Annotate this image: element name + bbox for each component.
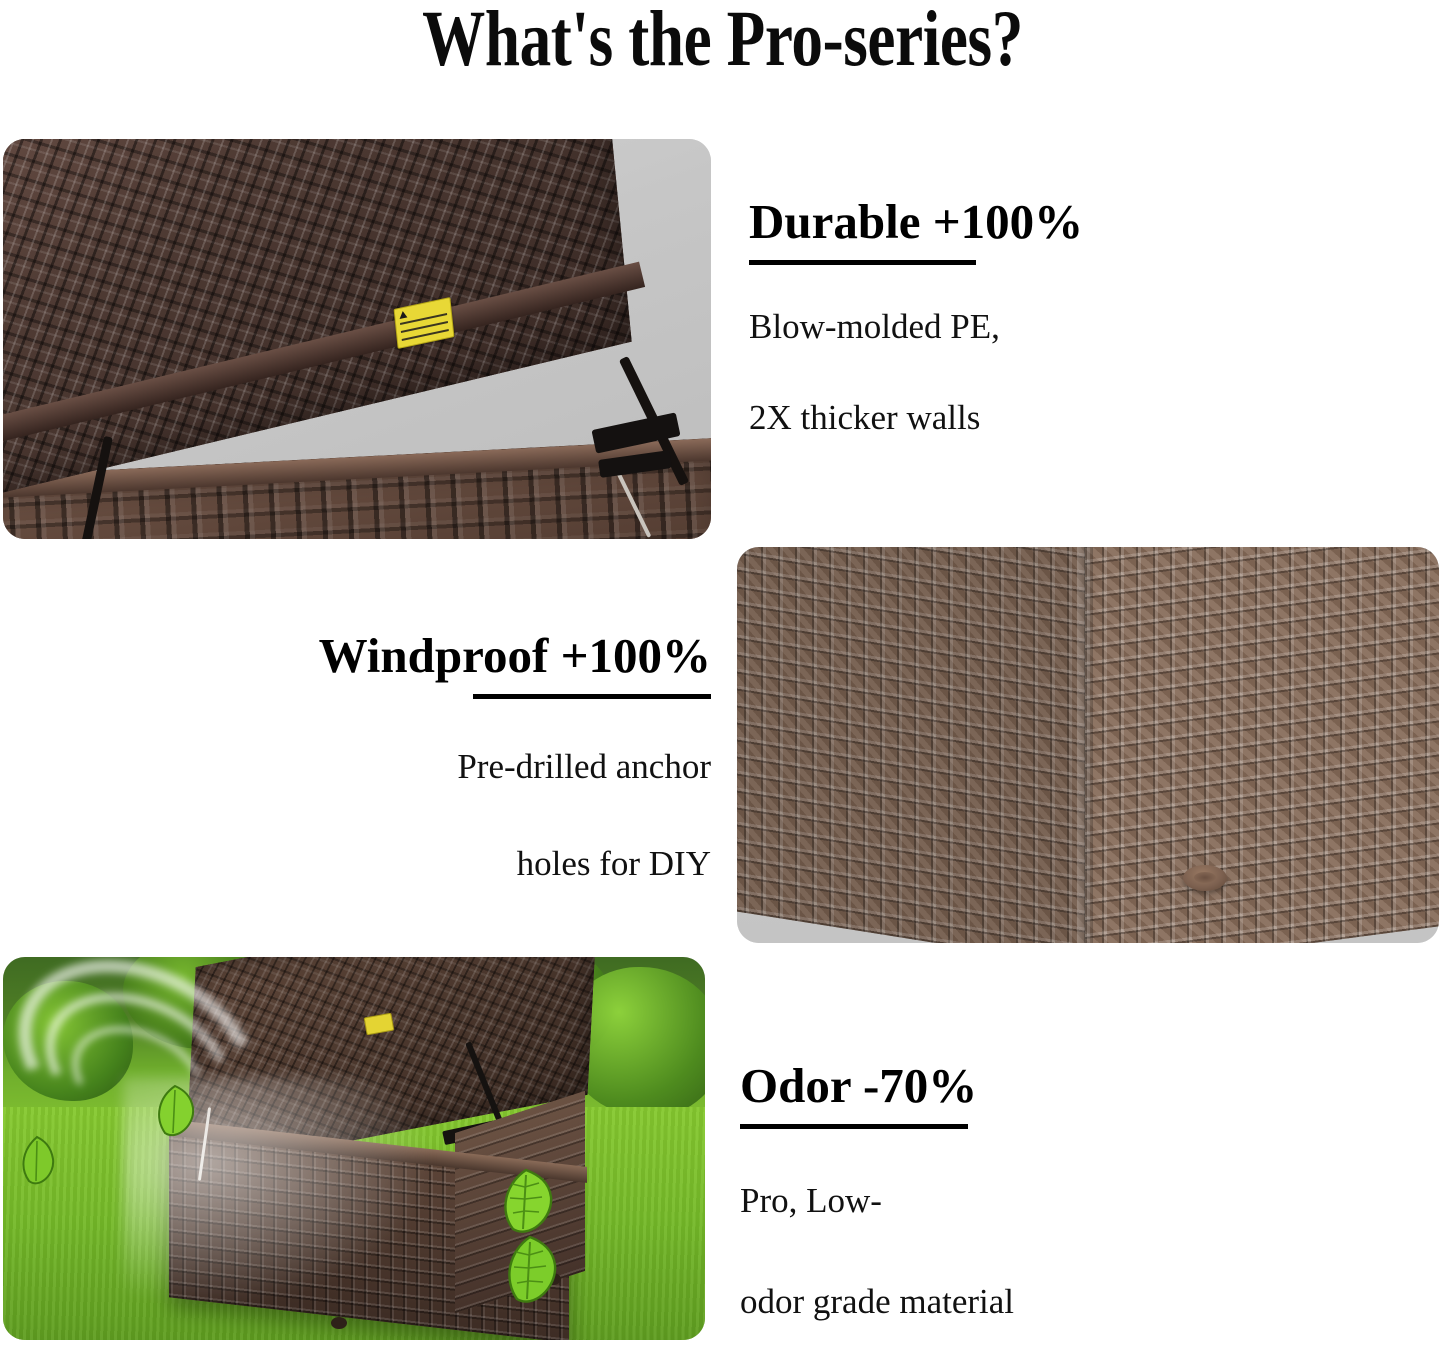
leaf-icon xyxy=(495,1167,557,1239)
woven-face-right xyxy=(1085,547,1439,943)
feature-block-windproof: Windproof +100% Pre-drilled anchor holes… xyxy=(265,628,711,893)
leaf-icon xyxy=(17,1135,57,1189)
heading-rule xyxy=(740,1124,968,1129)
warning-triangle-icon xyxy=(399,310,408,319)
photo-lid-open xyxy=(3,139,711,539)
feature-body-line2-durable: 2X thicker walls xyxy=(749,388,1083,447)
caster-wheel xyxy=(331,1317,347,1329)
feature-body-line1-odor: Pro, Low- xyxy=(740,1171,1014,1230)
feature-heading-windproof: Windproof +100% xyxy=(265,628,711,684)
infographic-page: What's the Pro-series? Durable +100% Blo… xyxy=(0,0,1445,1370)
feature-body-line1-durable: Blow-molded PE, xyxy=(749,297,1083,356)
leaf-icon xyxy=(499,1233,561,1309)
feature-heading-durable: Durable +100% xyxy=(749,194,1083,250)
woven-face-left xyxy=(737,547,1087,943)
feature-body-line2-windproof: holes for DIY xyxy=(265,834,711,893)
feature-heading-odor: Odor -70% xyxy=(740,1058,1014,1114)
page-title: What's the Pro-series? xyxy=(145,0,1301,86)
heading-rule xyxy=(473,694,711,699)
corner-edge xyxy=(1077,547,1093,943)
feature-block-odor: Odor -70% Pro, Low- odor grade material xyxy=(740,1058,1014,1331)
feature-block-durable: Durable +100% Blow-molded PE, 2X thicker… xyxy=(749,194,1083,447)
anchor-hole-icon xyxy=(1183,865,1227,891)
heading-rule xyxy=(749,260,976,265)
leaf-icon xyxy=(151,1083,199,1141)
photo-garden-odor xyxy=(3,957,705,1340)
photo-corner-closeup xyxy=(737,547,1439,943)
feature-body-line1-windproof: Pre-drilled anchor xyxy=(265,737,711,796)
feature-body-line2-odor: odor grade material xyxy=(740,1272,1014,1331)
